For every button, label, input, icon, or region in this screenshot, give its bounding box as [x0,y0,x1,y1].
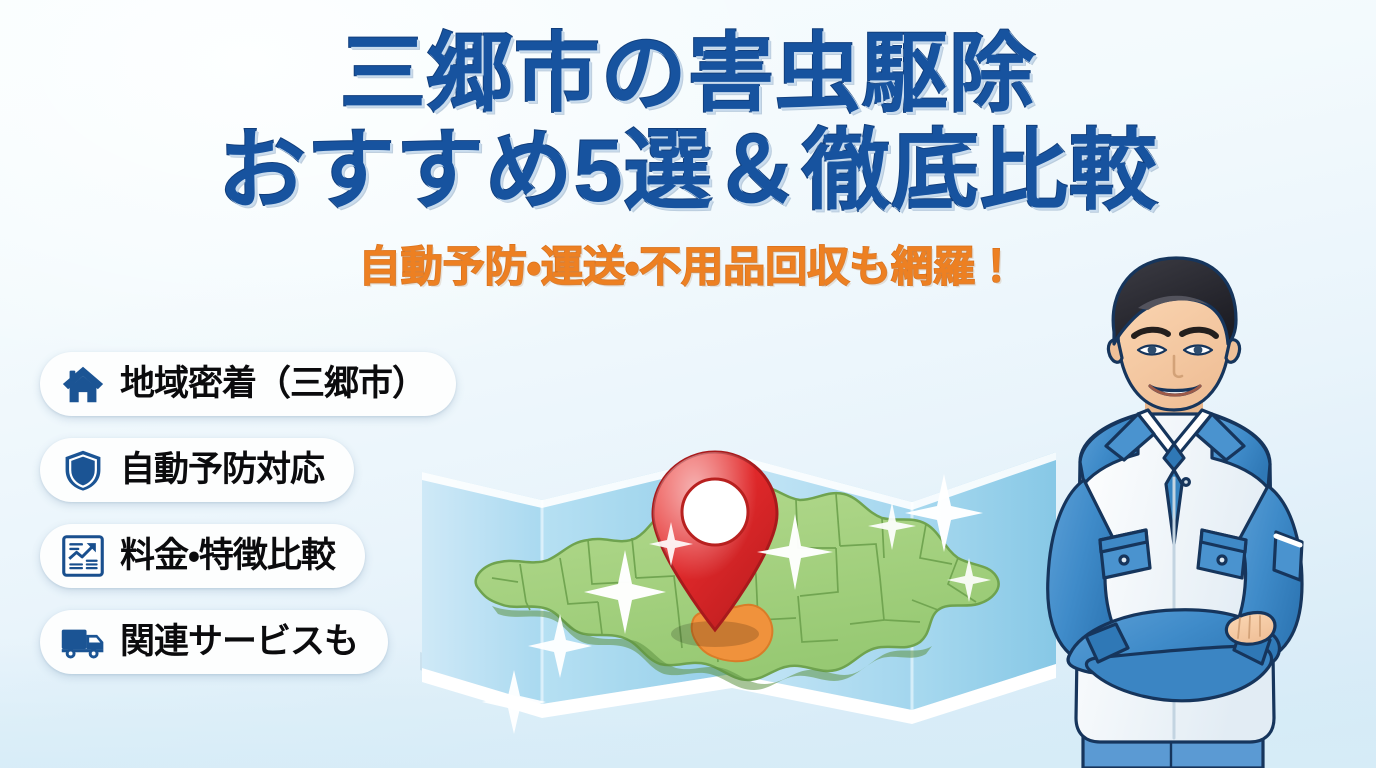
feature-pill-list: 地域密着（三郷市） 自動予防対応 [40,352,456,674]
shield-icon [60,447,106,493]
feature-pill-label: 関連サービスも [120,623,358,662]
report-chart-icon [60,533,106,579]
feature-pill-related-services[interactable]: 関連サービスも [40,610,388,674]
feature-pill-local[interactable]: 地域密着（三郷市） [40,352,456,416]
page-title-line-2: おすすめ5選＆徹底比較 [0,125,1376,217]
folded-paper-map [392,352,1082,752]
page-title-line-1: 三郷市の害虫駆除 [0,30,1376,119]
feature-pill-label: 地域密着（三郷市） [120,365,426,404]
feature-pill-prevention[interactable]: 自動予防対応 [40,438,354,502]
home-icon [60,361,106,407]
feature-pill-label: 自動予防対応 [120,451,324,490]
truck-icon [60,619,106,665]
banner-canvas: 三郷市の害虫駆除 おすすめ5選＆徹底比較 自動予防・運送・不用品回収も網羅！ 地… [0,0,1376,768]
feature-pill-pricing[interactable]: 料金・特徴比較 [40,524,365,588]
feature-pill-label: 料金・特徴比較 [120,537,335,576]
worker-illustration [988,248,1376,768]
